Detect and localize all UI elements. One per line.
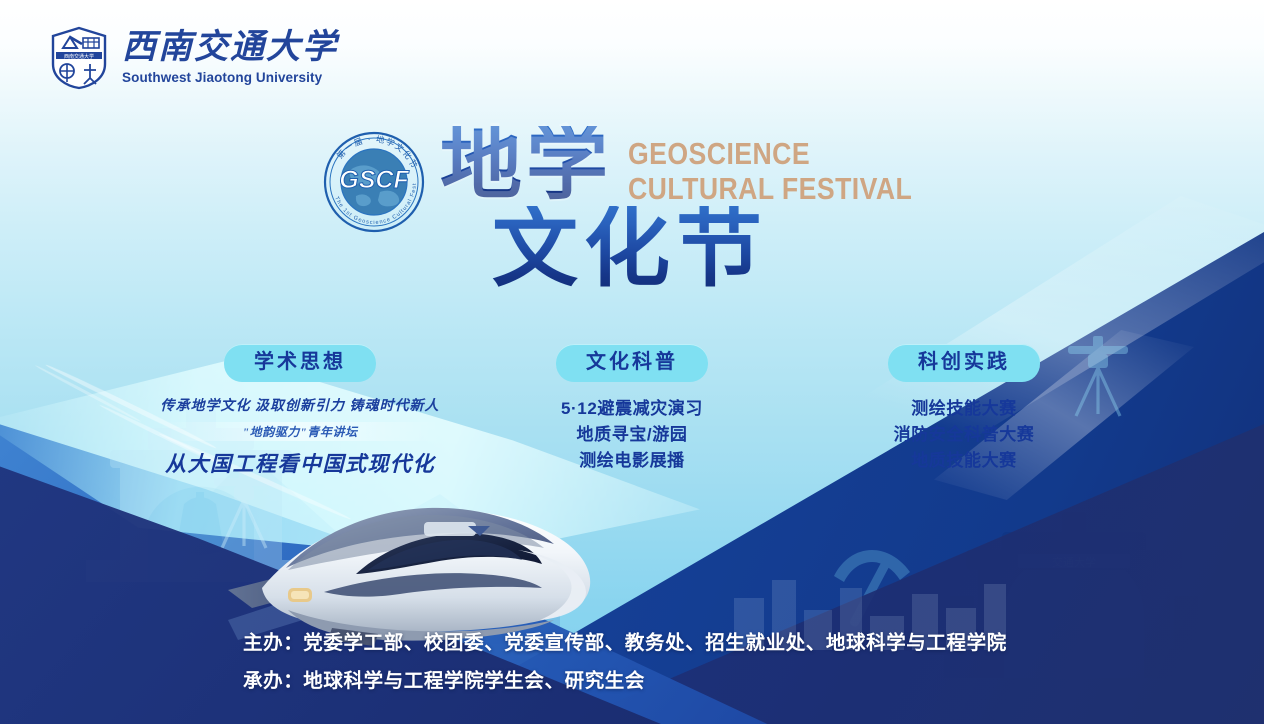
program-column-science-popularization: 文化科普 5·12避震减灾演习 地质寻宝/游园 测绘电影展播 xyxy=(507,344,757,478)
organizer-line: 承办：地球科学与工程学院学生会、研究生会 xyxy=(243,662,1007,700)
footer-credits: 主办：党委学工部、校团委、党委宣传部、教务处、招生就业处、地球科学与工程学院 承… xyxy=(243,624,1007,700)
program-item: 5·12避震减灾演习 xyxy=(561,396,703,422)
festival-title-en: GEOSCIENCE CULTURAL FESTIVAL xyxy=(628,136,959,207)
swjtu-shield-icon: 西南交通大学 xyxy=(50,26,108,90)
column-body-innovation-practice: 测绘技能大赛 消防安全科普大赛 地质技能大赛 xyxy=(894,396,1035,473)
festival-title-en-line1: GEOSCIENCE xyxy=(628,136,912,171)
university-name-en: Southwest Jiaotong University xyxy=(122,71,338,85)
program-column-innovation-practice: 科创实践 测绘技能大赛 消防安全科普大赛 地质技能大赛 xyxy=(839,344,1089,478)
poster-canvas: 交通大学 xyxy=(0,0,1264,724)
badge-acronym: GSCF xyxy=(339,166,409,194)
column-body-academic: 传承地学文化 汲取创新引力 铸魂时代新人 "地韵驱力"青年讲坛 从大国工程看中国… xyxy=(161,396,440,478)
program-item: 地质寻宝/游园 xyxy=(561,422,703,448)
university-logo: 西南交通大学 西南交通大学 Southwest Jiaotong Univers… xyxy=(50,26,338,90)
university-name-cn: 西南交通大学 xyxy=(122,31,338,65)
program-item: 地质技能大赛 xyxy=(894,448,1035,474)
svg-text:西南交通大学: 西南交通大学 xyxy=(64,53,94,60)
gscf-globe-emblem-icon: 第一届 · 地学文化节 The 1st Geoscience Cultural … xyxy=(322,130,426,234)
program-columns: 学术思想 传承地学文化 汲取创新引力 铸魂时代新人 "地韵驱力"青年讲坛 从大国… xyxy=(0,344,1264,478)
column-pill-innovation-practice[interactable]: 科创实践 xyxy=(888,344,1040,382)
column-pill-academic[interactable]: 学术思想 xyxy=(224,344,376,382)
program-item: 测绘技能大赛 xyxy=(894,396,1035,422)
program-column-academic: 学术思想 传承地学文化 汲取创新引力 铸魂时代新人 "地韵驱力"青年讲坛 从大国… xyxy=(175,344,425,478)
program-item: 消防安全科普大赛 xyxy=(894,422,1035,448)
column-pill-science-popularization[interactable]: 文化科普 xyxy=(556,344,708,382)
column-body-science-popularization: 5·12避震减灾演习 地质寻宝/游园 测绘电影展播 xyxy=(561,396,703,473)
festival-title-cn-line2: 文化节 xyxy=(492,206,768,292)
host-line: 主办：党委学工部、校团委、党委宣传部、教务处、招生就业处、地球科学与工程学院 xyxy=(243,624,1007,662)
program-item: 传承地学文化 汲取创新引力 铸魂时代新人 xyxy=(161,396,440,417)
festival-title-cn-line1: 地学 xyxy=(440,126,612,201)
program-item: "地韵驱力"青年讲坛 xyxy=(161,422,440,441)
